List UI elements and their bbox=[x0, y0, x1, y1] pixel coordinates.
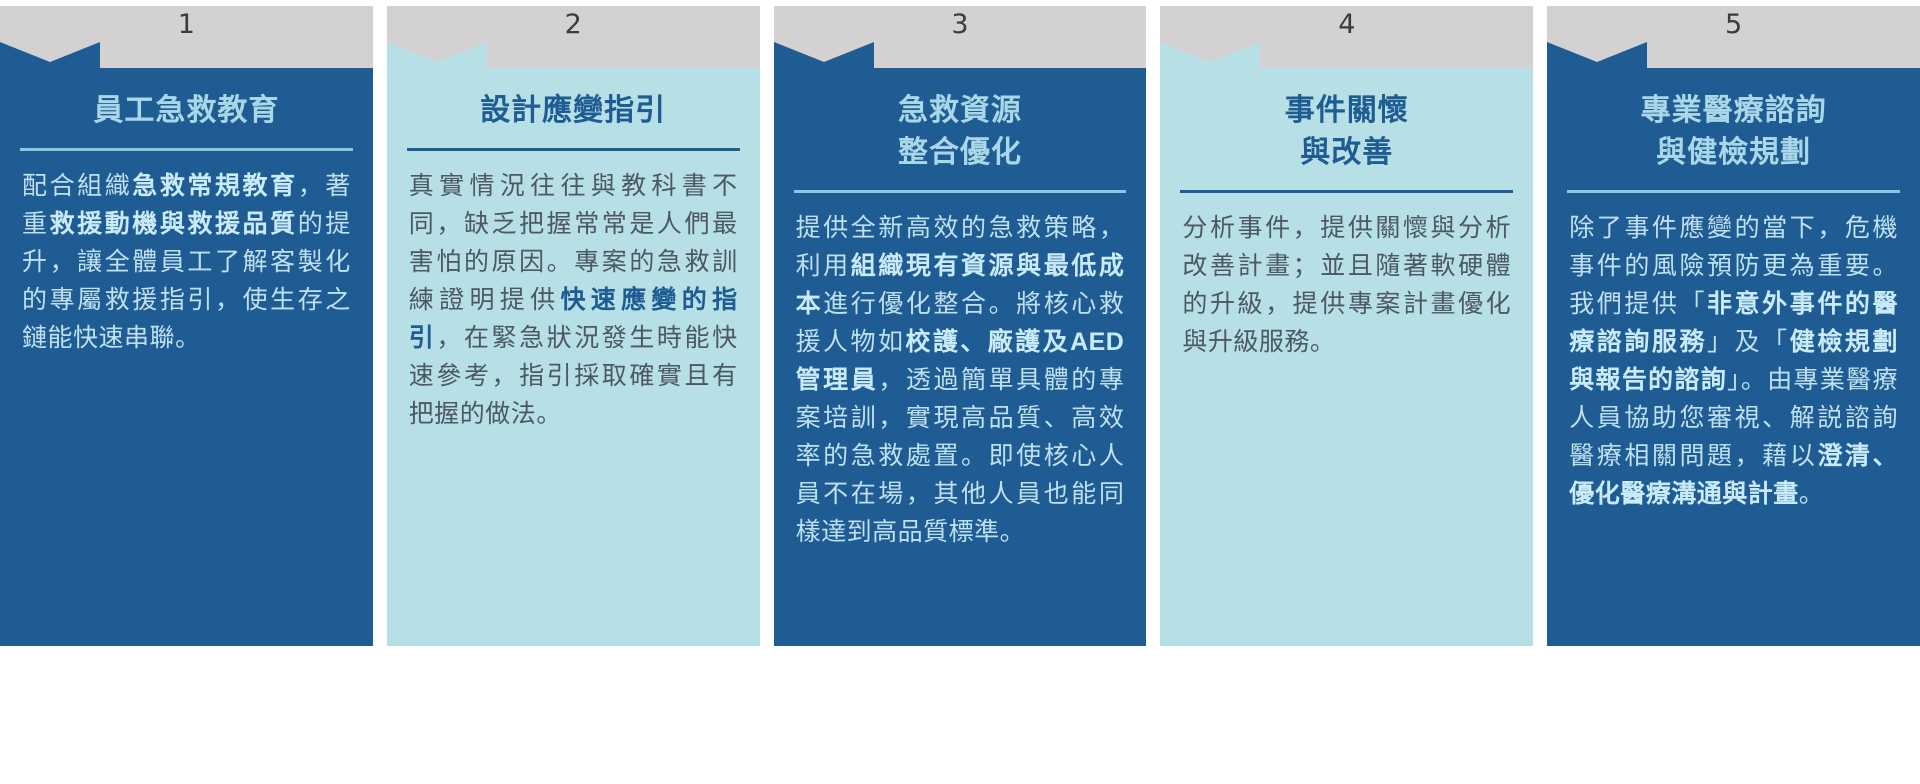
step-header-chevron-4: 4 bbox=[1160, 6, 1533, 68]
step-body-2: 真實情況往往與教科書不同，缺乏把握常常是人們最害怕的原因。專案的急救訓練證明提供… bbox=[387, 151, 760, 447]
body-text-5-2: 」及「 bbox=[1707, 328, 1790, 356]
chevron-notch-icon bbox=[0, 42, 100, 68]
step-header-chevron-5: 5 bbox=[1547, 6, 1920, 68]
step-column-4: 4事件關懷 與改善分析事件，提供關懷與分析改善計畫；並且隨著軟硬體的升級，提供專… bbox=[1160, 6, 1533, 646]
step-number-1: 1 bbox=[0, 8, 373, 42]
step-number-2: 2 bbox=[387, 8, 760, 42]
chevron-notch-icon bbox=[1160, 42, 1260, 68]
step-number-5: 5 bbox=[1547, 8, 1920, 42]
step-body-5: 除了事件應變的當下，危機事件的風險預防更為重要。我們提供「非意外事件的醫療諮詢服… bbox=[1547, 193, 1920, 527]
step-title-2: 設計應變指引 bbox=[387, 68, 760, 132]
step-title-3: 急救資源 整合優化 bbox=[774, 68, 1147, 174]
body-text-5-6: 。 bbox=[1799, 480, 1825, 508]
step-number-4: 4 bbox=[1160, 8, 1533, 42]
body-text-4-0: 分析事件，提供關懷與分析改善計畫；並且隨著軟硬體的升級，提供專案計畫優化與升級服… bbox=[1182, 214, 1511, 356]
step-column-1: 1員工急救教育配合組織急救常規教育，著重救援動機與救援品質的提升，讓全體員工了解… bbox=[0, 6, 373, 646]
step-column-3: 3急救資源 整合優化提供全新高效的急救策略，利用組織現有資源與最低成本進行優化整… bbox=[774, 6, 1147, 646]
step-header-chevron-3: 3 bbox=[774, 6, 1147, 68]
chevron-notch-icon bbox=[1547, 42, 1647, 68]
step-title-5: 專業醫療諮詢 與健檢規劃 bbox=[1547, 68, 1920, 174]
step-body-1: 配合組織急救常規教育，著重救援動機與救援品質的提升，讓全體員工了解客製化的專屬救… bbox=[0, 151, 373, 371]
body-highlight-1-3: 救援動機與救援品質 bbox=[50, 210, 298, 238]
step-body-4: 分析事件，提供關懷與分析改善計畫；並且隨著軟硬體的升級，提供專案計畫優化與升級服… bbox=[1160, 193, 1533, 375]
step-body-3: 提供全新高效的急救策略，利用組織現有資源與最低成本進行優化整合。將核心救援人物如… bbox=[774, 193, 1147, 565]
step-header-chevron-1: 1 bbox=[0, 6, 373, 68]
step-title-4: 事件關懷 與改善 bbox=[1160, 68, 1533, 174]
body-text-2-2: ，在緊急狀況發生時能快速參考，指引採取確實且有把握的做法。 bbox=[409, 324, 738, 428]
body-highlight-1-1: 急救常規教育 bbox=[132, 172, 297, 200]
infographic-board: 1員工急救教育配合組織急救常規教育，著重救援動機與救援品質的提升，讓全體員工了解… bbox=[0, 0, 1920, 784]
body-text-1-0: 配合組織 bbox=[22, 172, 132, 200]
chevron-notch-icon bbox=[774, 42, 874, 68]
step-column-5: 5專業醫療諮詢 與健檢規劃除了事件應變的當下，危機事件的風險預防更為重要。我們提… bbox=[1547, 6, 1920, 646]
step-title-1: 員工急救教育 bbox=[0, 68, 373, 132]
chevron-notch-icon bbox=[387, 42, 487, 68]
step-column-2: 2設計應變指引真實情況往往與教科書不同，缺乏把握常常是人們最害怕的原因。專案的急… bbox=[387, 6, 760, 646]
step-number-3: 3 bbox=[774, 8, 1147, 42]
step-header-chevron-2: 2 bbox=[387, 6, 760, 68]
